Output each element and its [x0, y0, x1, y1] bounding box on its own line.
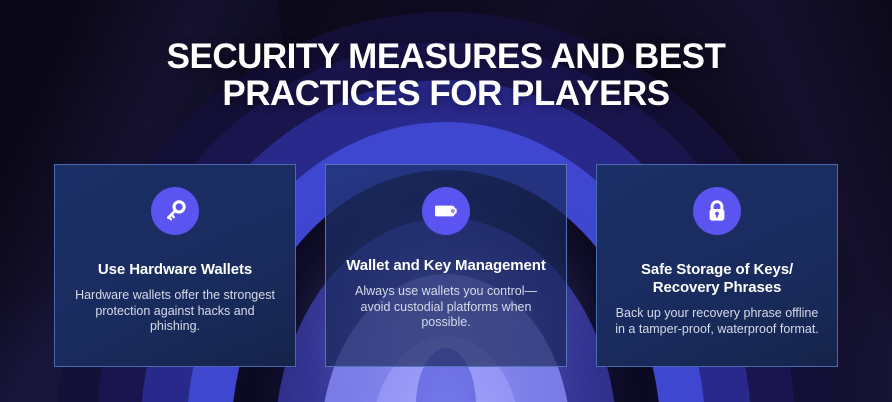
page-title-line-1: SECURITY MEASURES AND BEST [0, 38, 892, 75]
feature-card-hardware-wallets[interactable]: Use Hardware Wallets Hardware wallets of… [54, 164, 296, 367]
wallet-icon [422, 187, 470, 235]
feature-card-title: Wallet and Key Management [346, 257, 546, 275]
infographic-slide: SECURITY MEASURES AND BEST PRACTICES FOR… [0, 0, 892, 402]
key-icon [151, 187, 199, 235]
page-title-line-2: PRACTICES FOR PLAYERS [0, 75, 892, 112]
page-title: SECURITY MEASURES AND BEST PRACTICES FOR… [0, 38, 892, 112]
feature-card-title: Safe Storage of Keys/ Recovery Phrases [613, 261, 821, 297]
feature-card-body: Back up your recovery phrase offline in … [613, 306, 821, 337]
lock-icon [693, 187, 741, 235]
feature-card-wallet-key-management[interactable]: Wallet and Key Management Always use wal… [325, 164, 567, 367]
feature-card-body: Always use wallets you control—avoid cus… [342, 284, 550, 331]
feature-card-title: Use Hardware Wallets [98, 261, 252, 279]
feature-card-body: Hardware wallets offer the strongest pro… [71, 288, 279, 335]
feature-card-safe-storage[interactable]: Safe Storage of Keys/ Recovery Phrases B… [596, 164, 838, 367]
feature-card-list: Use Hardware Wallets Hardware wallets of… [0, 164, 892, 367]
